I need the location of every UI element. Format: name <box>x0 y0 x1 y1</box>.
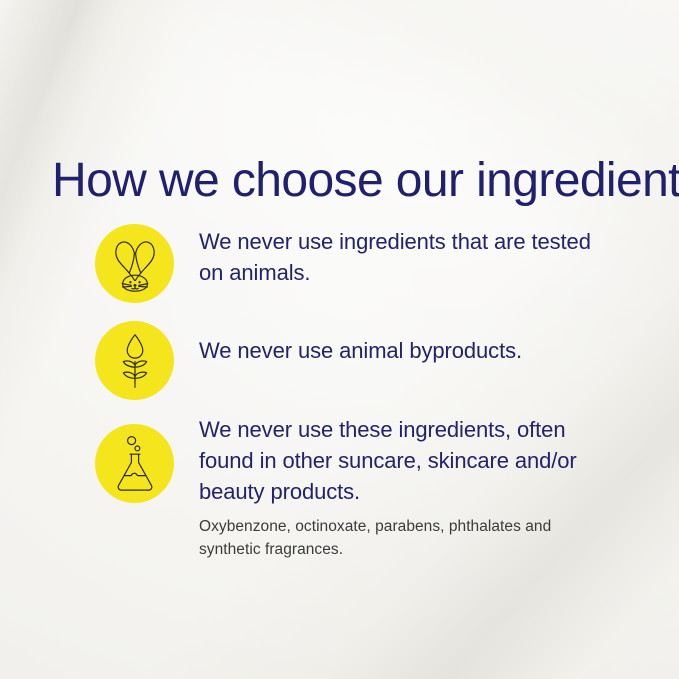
list-item: We never use these ingredients, often fo… <box>95 414 635 561</box>
list-item-body: We never use these ingredients, often fo… <box>199 414 611 507</box>
bunny-heart-ears-icon <box>95 224 174 303</box>
page-title: How we choose our ingredients <box>52 152 679 210</box>
list-item-text: We never use ingredients that are tested… <box>174 222 599 288</box>
content-area: How we choose our ingredients <box>0 0 679 679</box>
list-item: We never use ingredients that are tested… <box>95 222 635 303</box>
plant-leaf-droplet-icon <box>95 321 174 400</box>
list-item-text: We never use these ingredients, often fo… <box>174 414 611 561</box>
list-item: We never use animal byproducts. <box>95 313 635 400</box>
erlenmeyer-flask-icon <box>95 424 174 503</box>
list-item-body: We never use animal byproducts. <box>199 335 522 366</box>
list-item-body: We never use ingredients that are tested… <box>199 226 599 288</box>
list-item-text: We never use animal byproducts. <box>174 313 522 366</box>
principles-list: We never use ingredients that are tested… <box>95 222 635 561</box>
ingredient-principles-card: How we choose our ingredients <box>0 0 679 679</box>
list-item-subtext: Oxybenzone, octinoxate, parabens, phthal… <box>199 515 579 561</box>
